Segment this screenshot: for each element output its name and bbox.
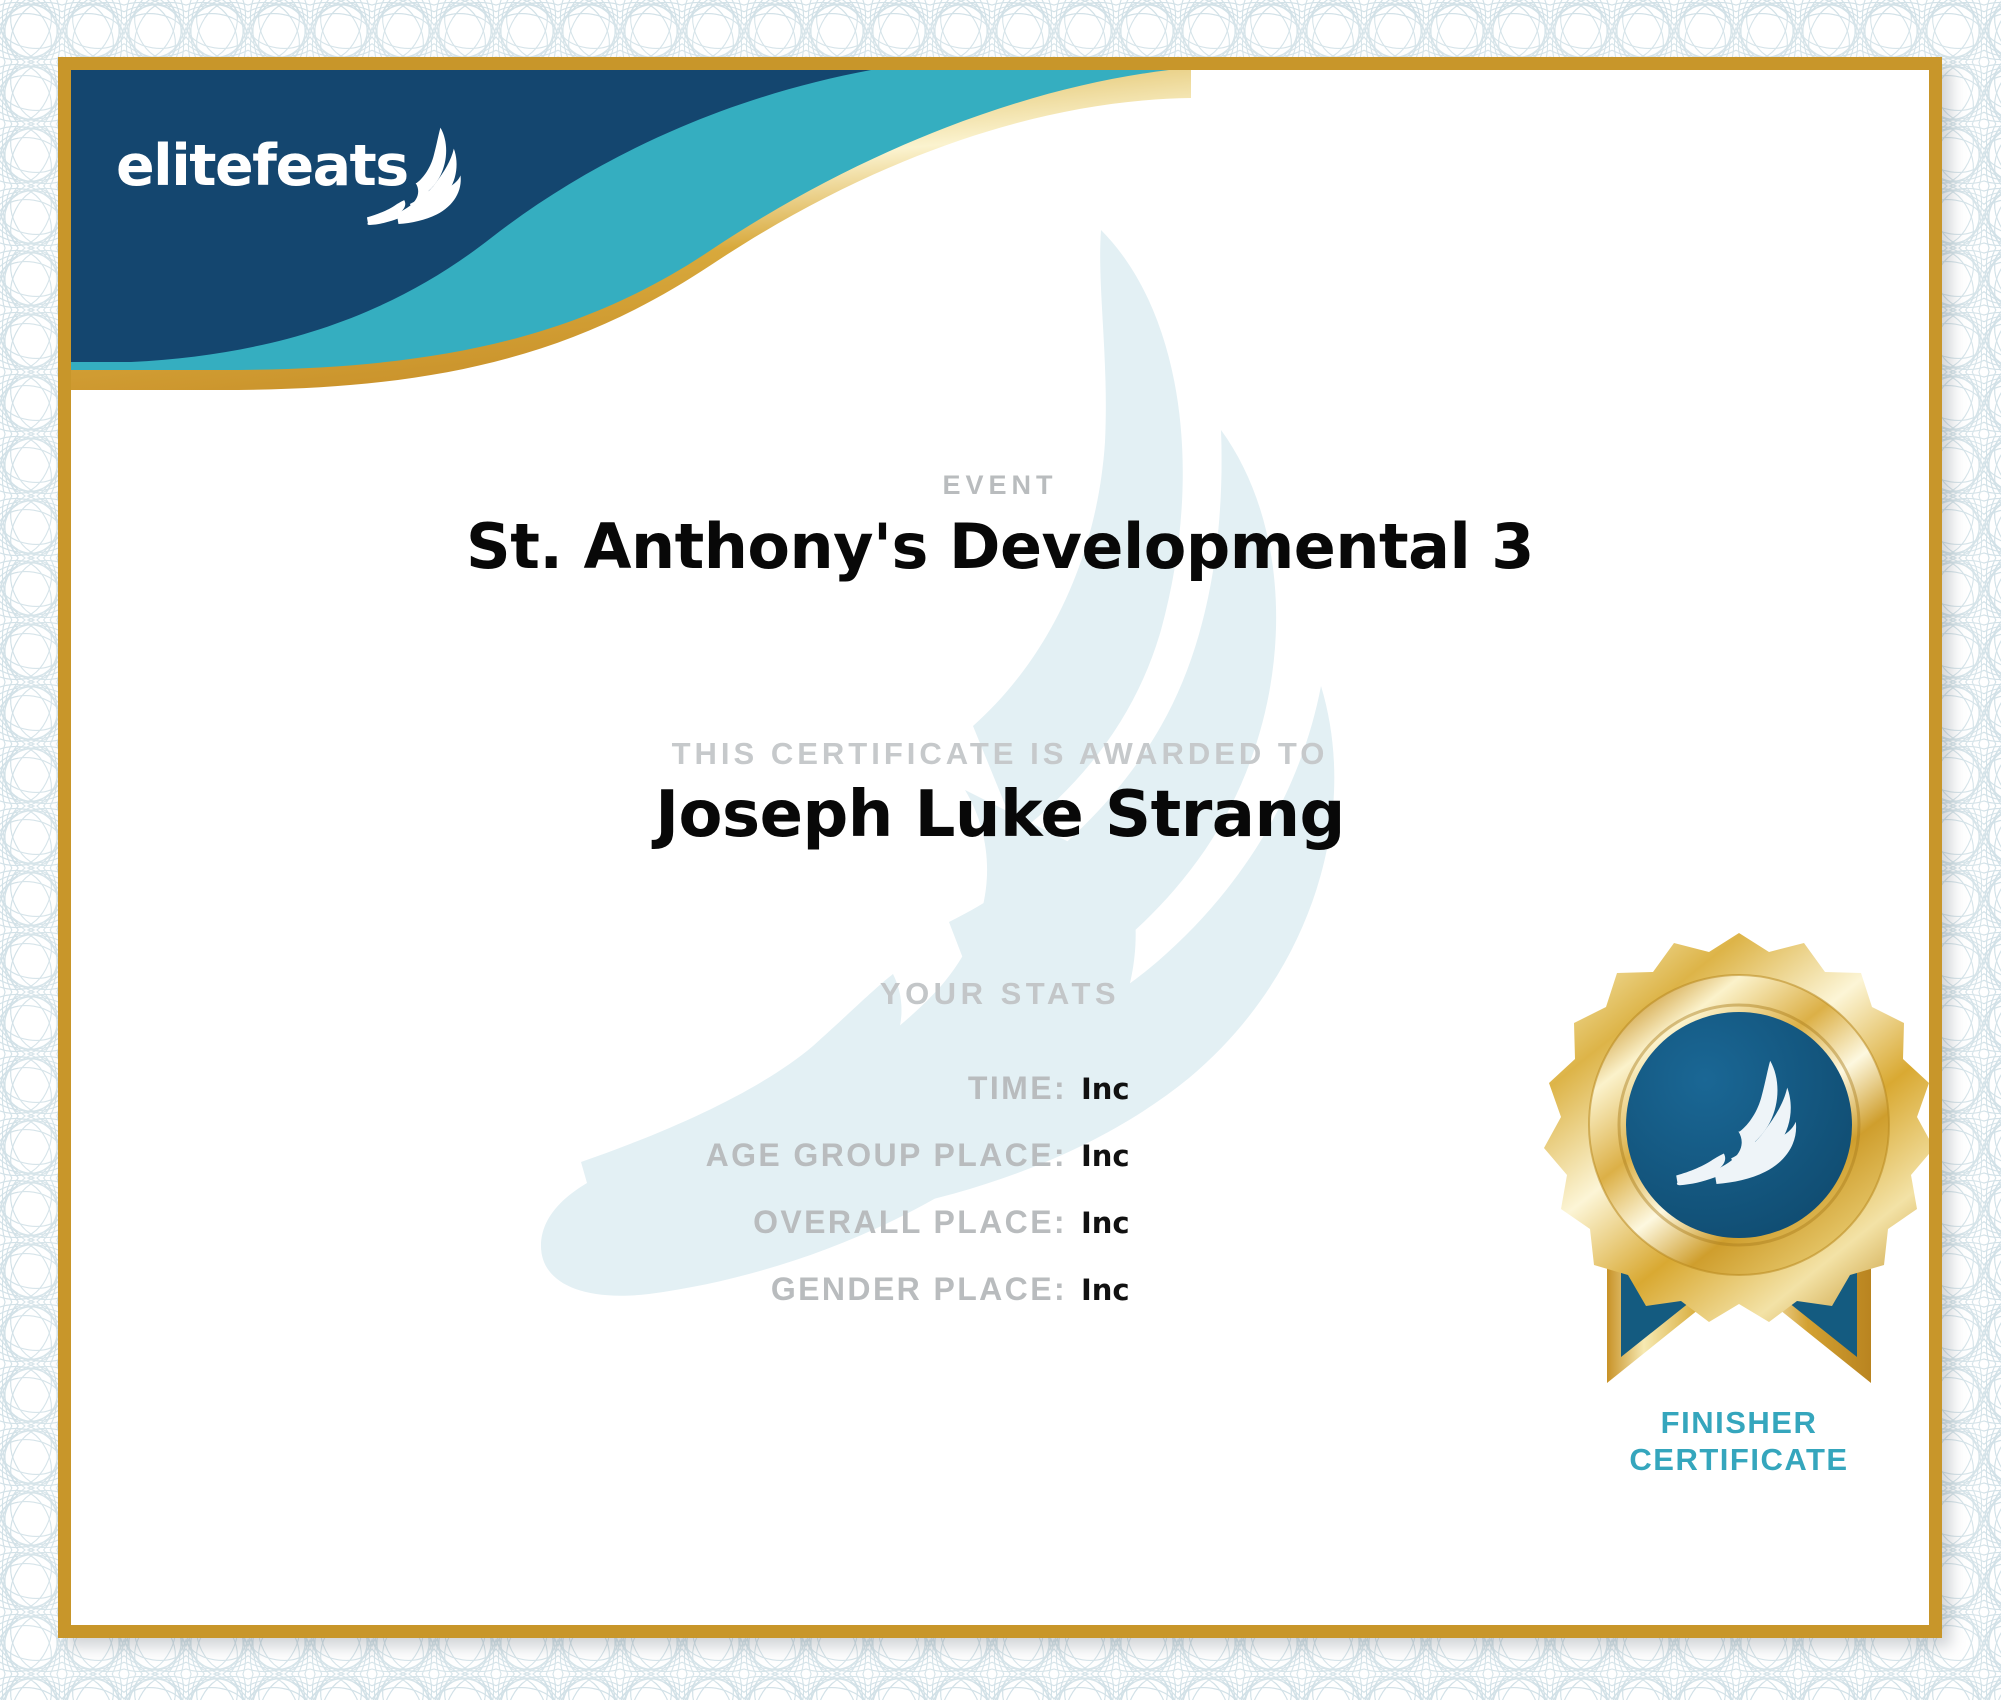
stat-value: Inc bbox=[1081, 1273, 1151, 1307]
stat-label: OVERALL PLACE: bbox=[753, 1204, 1067, 1241]
winged-foot-icon bbox=[366, 120, 471, 225]
medal-caption-line-2: CERTIFICATE bbox=[1529, 1442, 1929, 1479]
certificate-card: elitefeats EVENT St. Anthony's Developme… bbox=[58, 57, 1942, 1638]
medal-caption: FINISHER CERTIFICATE bbox=[1529, 1405, 1929, 1478]
stat-row-age-group-place: AGE GROUP PLACE: Inc bbox=[71, 1137, 1151, 1189]
logo-wordmark: elitefeats bbox=[116, 138, 408, 195]
stat-row-overall-place: OVERALL PLACE: Inc bbox=[71, 1204, 1151, 1256]
stat-label: GENDER PLACE: bbox=[771, 1271, 1067, 1308]
medal-center-disc bbox=[1626, 1012, 1852, 1238]
header-swoosh-graphic bbox=[71, 70, 1191, 390]
stat-value: Inc bbox=[1081, 1072, 1151, 1106]
stat-row-time: TIME: Inc bbox=[71, 1070, 1151, 1122]
awarded-to-label: THIS CERTIFICATE IS AWARDED TO bbox=[71, 736, 1929, 772]
medal-caption-line-1: FINISHER bbox=[1529, 1405, 1929, 1442]
stat-label: AGE GROUP PLACE: bbox=[706, 1137, 1067, 1174]
certificate-page: elitefeats EVENT St. Anthony's Developme… bbox=[0, 0, 2001, 1700]
stats-list: TIME: Inc AGE GROUP PLACE: Inc OVERALL P… bbox=[71, 1070, 1151, 1338]
event-label: EVENT bbox=[71, 470, 1929, 501]
event-title: St. Anthony's Developmental 3 bbox=[71, 510, 1929, 583]
stat-label: TIME: bbox=[968, 1070, 1067, 1107]
recipient-name: Joseph Luke Strang bbox=[71, 778, 1929, 852]
stat-value: Inc bbox=[1081, 1206, 1151, 1240]
stat-row-gender-place: GENDER PLACE: Inc bbox=[71, 1271, 1151, 1323]
elitefeats-logo: elitefeats bbox=[116, 132, 461, 227]
finisher-medal: 2024 bbox=[1529, 925, 1929, 1545]
stat-value: Inc bbox=[1081, 1139, 1151, 1173]
medal-rosette-icon: 2024 bbox=[1529, 925, 1929, 1435]
